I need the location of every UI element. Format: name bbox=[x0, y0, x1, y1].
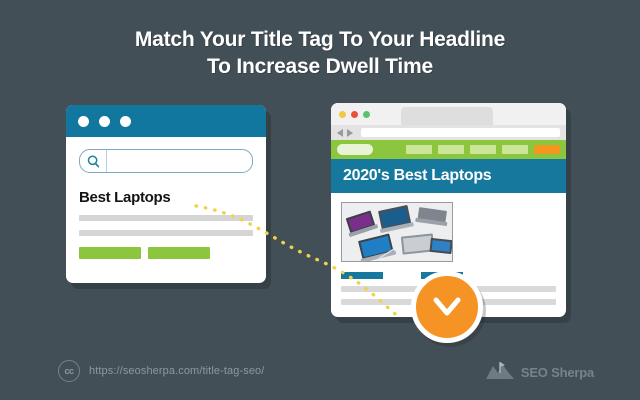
snippet-line bbox=[79, 215, 253, 221]
snippet-line bbox=[79, 230, 253, 236]
headline-line-1: Match Your Title Tag To Your Headline bbox=[0, 26, 640, 53]
window-dot-icon[interactable] bbox=[78, 116, 89, 127]
window-dot-icon[interactable] bbox=[99, 116, 110, 127]
maximize-dot-icon[interactable] bbox=[363, 111, 370, 118]
sitelink-button[interactable] bbox=[148, 247, 210, 259]
footer-license: cc https://seosherpa.com/title-tag-seo/ bbox=[58, 360, 264, 382]
url-input[interactable] bbox=[361, 128, 560, 137]
clock-icon bbox=[427, 287, 467, 327]
search-icon bbox=[80, 150, 107, 172]
brand-name: SEO Sherpa bbox=[521, 365, 594, 380]
source-url[interactable]: https://seosherpa.com/title-tag-seo/ bbox=[89, 365, 264, 377]
minimize-dot-icon[interactable] bbox=[339, 111, 346, 118]
site-nav-item[interactable] bbox=[502, 145, 528, 154]
article-paragraph bbox=[463, 202, 556, 262]
site-nav-item[interactable] bbox=[406, 145, 432, 154]
infographic-canvas: Match Your Title Tag To Your Headline To… bbox=[0, 0, 640, 400]
site-navigation-bar bbox=[331, 140, 566, 159]
page-title: Match Your Title Tag To Your Headline To… bbox=[0, 26, 640, 80]
sitelink-button[interactable] bbox=[79, 247, 141, 259]
page-headline-banner: 2020's Best Laptops bbox=[331, 159, 566, 193]
browser-nav-bar bbox=[331, 125, 566, 140]
window-dot-icon[interactable] bbox=[120, 116, 131, 127]
left-window-body: Best Laptops bbox=[66, 137, 266, 259]
site-nav-item[interactable] bbox=[438, 145, 464, 154]
site-nav-cta-button[interactable] bbox=[534, 145, 560, 154]
search-input[interactable] bbox=[107, 150, 252, 172]
arrow-right-icon[interactable] bbox=[347, 129, 353, 137]
laptops-photo bbox=[341, 202, 453, 262]
left-window-titlebar bbox=[66, 105, 266, 137]
browser-tab[interactable] bbox=[401, 107, 493, 125]
site-nav-items bbox=[406, 145, 560, 154]
headline-line-2: To Increase Dwell Time bbox=[0, 53, 640, 80]
sitelink-button-group bbox=[79, 247, 253, 259]
creative-commons-icon: cc bbox=[58, 360, 80, 382]
search-result-title[interactable]: Best Laptops bbox=[79, 189, 253, 206]
search-results-window: Best Laptops bbox=[66, 105, 266, 283]
site-logo[interactable] bbox=[337, 144, 373, 155]
mountain-icon bbox=[485, 360, 515, 385]
search-bar[interactable] bbox=[79, 149, 253, 173]
section-heading-bar bbox=[341, 272, 383, 279]
page-headline-text: 2020's Best Laptops bbox=[343, 167, 491, 185]
brand-logo: SEO Sherpa bbox=[485, 360, 594, 385]
arrow-left-icon[interactable] bbox=[337, 129, 343, 137]
article-content bbox=[331, 193, 566, 262]
dwell-time-clock-badge bbox=[411, 271, 483, 343]
browser-chrome-bar bbox=[331, 103, 566, 125]
close-dot-icon[interactable] bbox=[351, 111, 358, 118]
site-nav-item[interactable] bbox=[470, 145, 496, 154]
